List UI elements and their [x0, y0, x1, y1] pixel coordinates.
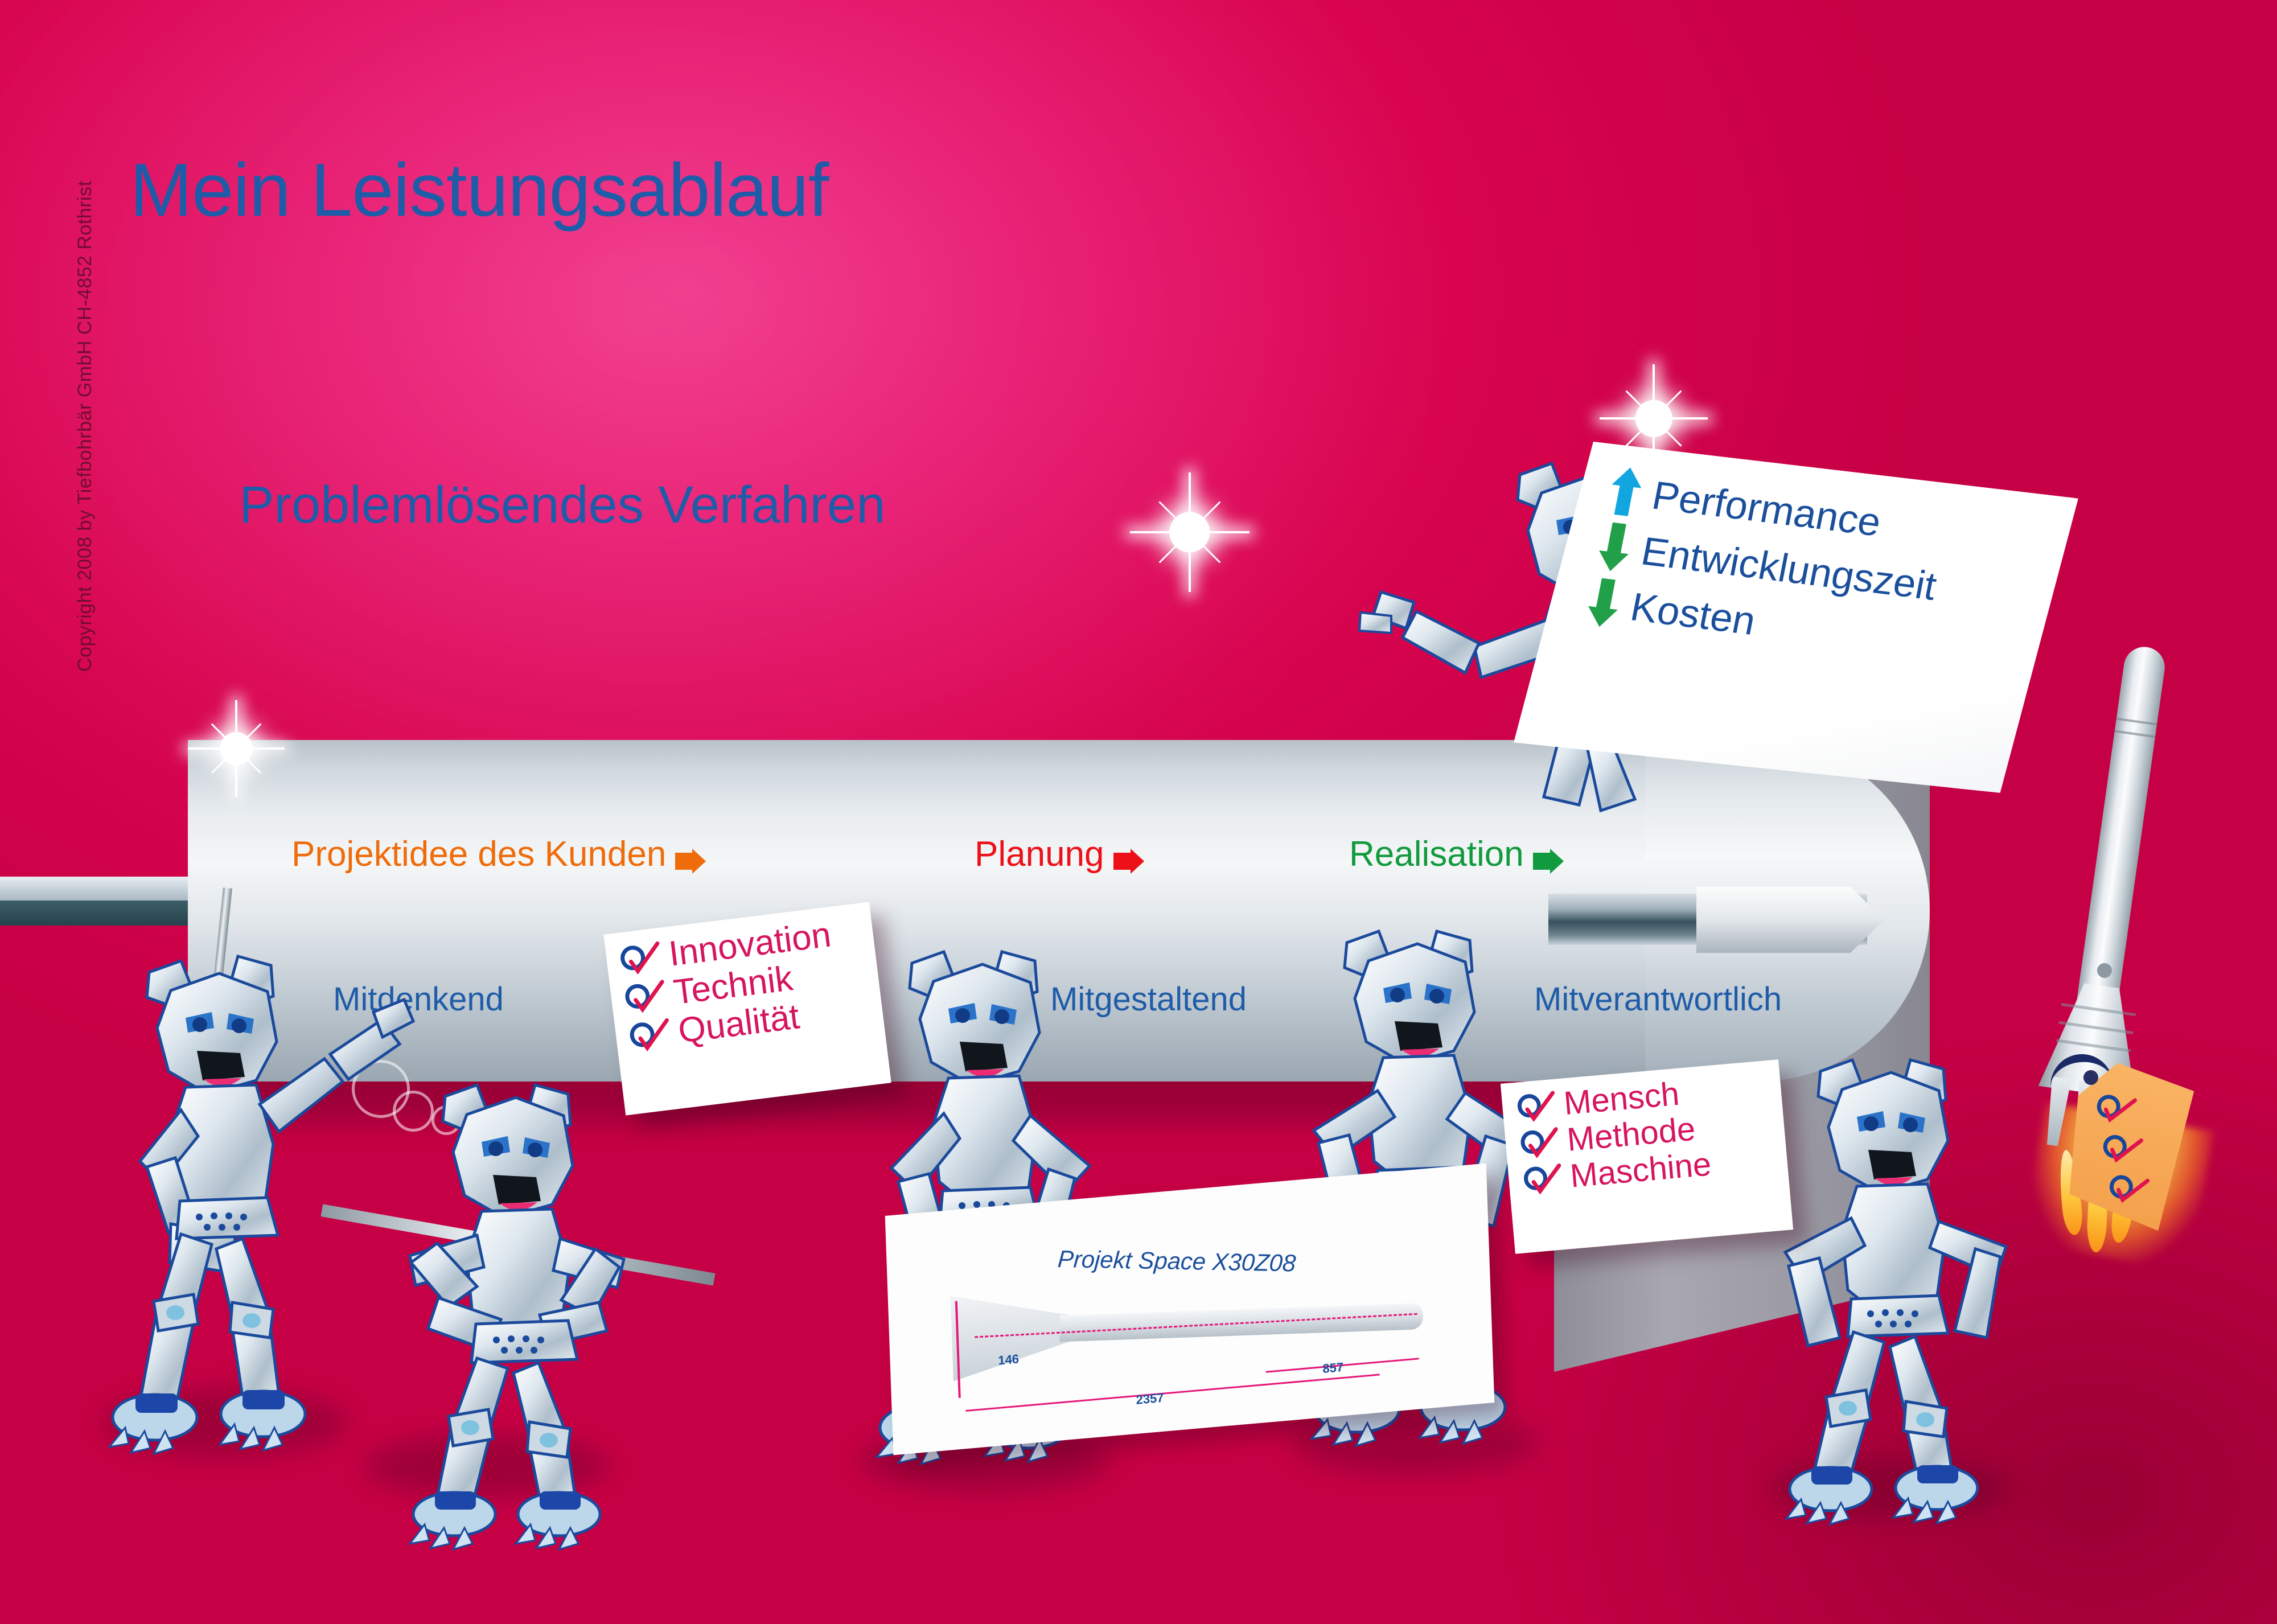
check-icon [1518, 1125, 1560, 1160]
arrow-down-icon [1596, 521, 1634, 573]
phase-label-planung: Planung [975, 834, 1144, 874]
sparkle-icon [1130, 472, 1250, 592]
blueprint-dimension: 146 [998, 1351, 1019, 1368]
phase-label-text: Projektidee des Kunden [291, 834, 666, 874]
poster-canvas: Mein Leistungsablauf Problemlösendes Ver… [0, 0, 2277, 1624]
check-icon [1521, 1162, 1563, 1196]
phase-label-text: Planung [975, 834, 1104, 874]
page-title: Mein Leistungsablauf [130, 147, 829, 233]
arrow-down-icon [1585, 577, 1624, 629]
sign-resources: Mensch Methode Maschine [1501, 1059, 1793, 1254]
right-arrow-icon [1113, 842, 1144, 867]
check-icon [2106, 1171, 2150, 1207]
robot-bear-seated [347, 1047, 666, 1531]
blueprint-dimension: 857 [1322, 1360, 1343, 1376]
rocket-body [2076, 644, 2167, 1011]
check-icon [627, 1017, 672, 1054]
check-icon [2100, 1131, 2144, 1166]
sign-quality-criteria: Innovation Technik Qualität [603, 902, 891, 1116]
check-icon [1515, 1089, 1557, 1124]
blueprint-dimension: 2357 [1136, 1391, 1164, 1408]
check-icon [622, 978, 668, 1015]
phase-label-projektidee: Projektidee des Kunden [291, 834, 706, 874]
copyright-notice: Copyright 2008 by Tiefbohrbär GmbH CH-48… [74, 11, 96, 672]
blueprint-dim-line [965, 1374, 1379, 1412]
page-subtitle: Problemlösendes Verfahren [239, 475, 885, 535]
right-arrow-icon [1533, 842, 1564, 867]
check-icon [2094, 1091, 2138, 1126]
blueprint-title: Projekt Space X30Z08 [1057, 1245, 1297, 1277]
robot-bear-rocket-side [1748, 1019, 2066, 1520]
phase-label-text: Realisation [1349, 834, 1524, 874]
check-icon [618, 940, 663, 977]
banner-row-label: Kosten [1627, 587, 1759, 641]
right-arrow-icon [675, 842, 706, 867]
arrow-up-icon [1606, 466, 1645, 517]
banner-content: Performance Entwicklungszeit Kosten [1583, 466, 1951, 674]
rocket [2044, 641, 2194, 1082]
phase-label-realisation: Realisation [1349, 834, 1564, 874]
cylinder-arrowhead-icon [1696, 887, 1884, 953]
